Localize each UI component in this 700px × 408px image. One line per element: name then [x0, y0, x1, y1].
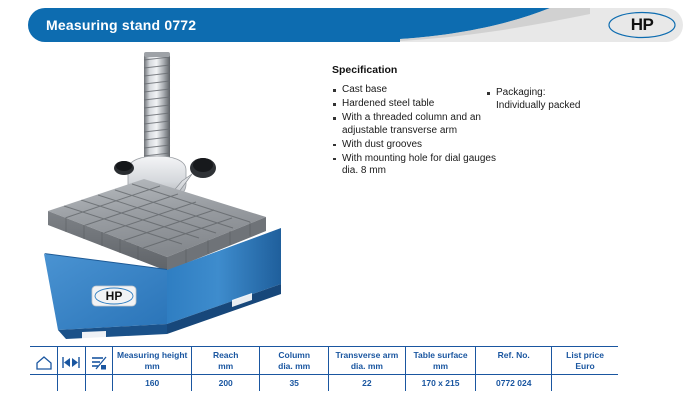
- header-label: Measuring height: [117, 350, 187, 360]
- column-header-list-price: List price Euro: [552, 347, 618, 375]
- column-header-transverse-arm: Transverse arm dia. mm: [329, 347, 406, 375]
- header-label: Table surface: [413, 350, 467, 360]
- product-photo: HP: [36, 48, 296, 340]
- hp-logo: HP: [606, 11, 678, 39]
- hp-logo-text: HP: [606, 11, 678, 39]
- header-label: Transverse arm: [335, 350, 398, 360]
- clamp-knob-right: [190, 158, 216, 178]
- specification-list: Cast base Hardened steel table With a th…: [332, 84, 512, 178]
- header-unit: mm: [113, 361, 191, 372]
- cell-ref-no: 0772 024: [476, 375, 552, 391]
- header-label: Ref. No.: [498, 350, 530, 360]
- page-title: Measuring stand 0772: [46, 8, 196, 42]
- specification-block: Specification Cast base Hardened steel t…: [332, 64, 512, 179]
- column-header-measuring-height: Measuring height mm: [113, 347, 192, 375]
- header-label: Reach: [213, 350, 239, 360]
- svg-text:HP: HP: [106, 289, 123, 303]
- list-item: Hardened steel table: [332, 98, 512, 111]
- packaging-block: Packaging: Individually packed: [486, 87, 666, 112]
- list-item: Cast base: [332, 84, 512, 97]
- specification-title: Specification: [332, 64, 512, 76]
- cell-column-dia: 35: [260, 375, 329, 391]
- header-unit: mm: [406, 361, 475, 372]
- column-header-table-surface: Table surface mm: [405, 347, 475, 375]
- header-unit: mm: [192, 361, 259, 372]
- clamp-knob-left: [114, 161, 134, 175]
- list-item: With mounting hole for dial gauges dia. …: [332, 153, 512, 178]
- row-icon-cell-3: [85, 375, 113, 391]
- column-header-ref-no: Ref. No.: [476, 347, 552, 375]
- packaging-list: Packaging: Individually packed: [486, 87, 666, 112]
- measuring-height-icon: [30, 347, 58, 375]
- header-label: Column: [278, 350, 310, 360]
- header-taper-shape: [400, 8, 590, 42]
- list-item: Packaging: Individually packed: [486, 87, 666, 112]
- catalog-page: Measuring stand 0772 HP: [0, 0, 700, 408]
- header-unit: dia. mm: [260, 361, 328, 372]
- packaging-value: Individually packed: [496, 100, 581, 111]
- column-header-reach: Reach mm: [192, 347, 260, 375]
- list-item: With dust grooves: [332, 139, 512, 152]
- header-unit: Euro: [552, 361, 618, 372]
- cell-reach: 200: [192, 375, 260, 391]
- cell-list-price: [552, 375, 618, 391]
- header-unit: dia. mm: [329, 361, 405, 372]
- table-header-row: Measuring height mm Reach mm Column dia.…: [30, 347, 618, 375]
- row-icon-cell-1: [30, 375, 58, 391]
- data-sheet-icon: [85, 347, 113, 375]
- row-icon-cell-2: [58, 375, 86, 391]
- cell-transverse-arm-dia: 22: [329, 375, 406, 391]
- cell-table-surface: 170 x 215: [405, 375, 475, 391]
- product-data-table: Measuring height mm Reach mm Column dia.…: [30, 346, 620, 391]
- table-row: 160 200 35 22 170 x 215 0772 024: [30, 375, 618, 391]
- header-label: List price: [566, 350, 604, 360]
- page-header: Measuring stand 0772 HP: [0, 8, 700, 42]
- cell-measuring-height: 160: [113, 375, 192, 391]
- list-item: With a threaded column and an adjustable…: [332, 112, 512, 137]
- column-header-column-dia: Column dia. mm: [260, 347, 329, 375]
- base-hp-badge: HP: [92, 286, 136, 306]
- packaging-label: Packaging:: [496, 87, 545, 98]
- reach-width-icon: [58, 347, 86, 375]
